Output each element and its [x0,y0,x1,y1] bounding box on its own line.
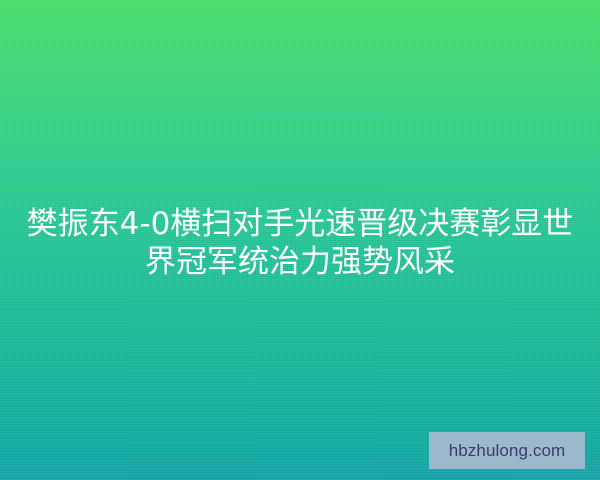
page-title: 樊振东4-0横扫对手光速晋级决赛彰显世界冠军统治力强势风采 [0,205,600,281]
watermark-site-label: hbzhulong.com [449,442,566,459]
watermark-badge: hbzhulong.com [429,432,585,469]
cover-image-canvas: 樊振东4-0横扫对手光速晋级决赛彰显世界冠军统治力强势风采 hbzhulong.… [0,0,600,480]
